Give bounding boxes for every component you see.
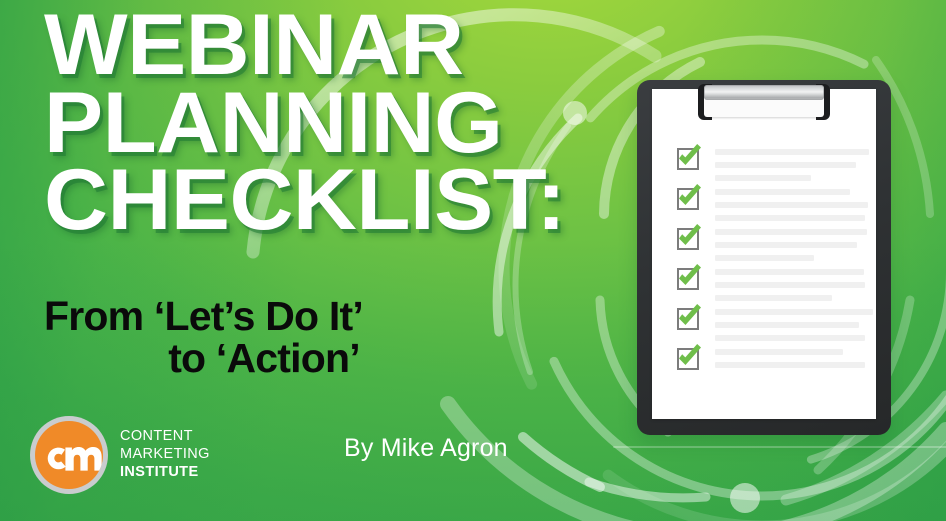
checklist xyxy=(652,89,876,419)
placeholder-line xyxy=(715,349,843,355)
placeholder-line xyxy=(715,229,867,235)
cmi-logo-wordmark: CONTENT MARKETING INSTITUTE xyxy=(120,428,210,481)
placeholder-line xyxy=(715,255,814,261)
logo-word-3: INSTITUTE xyxy=(120,464,210,482)
cmi-logo: CONTENT MARKETING INSTITUTE xyxy=(30,416,210,494)
placeholder-line xyxy=(715,149,869,155)
checkbox-checked-icon[interactable] xyxy=(677,148,699,170)
headline-line-2: PLANNING xyxy=(44,86,559,162)
logo-word-2: MARKETING xyxy=(120,446,210,464)
headline-line-1: WEBINAR xyxy=(44,8,559,84)
placeholder-line xyxy=(715,362,865,368)
check-mark-icon xyxy=(675,302,705,332)
cmi-logo-mark xyxy=(30,416,108,494)
cm-lettermark-icon xyxy=(35,421,103,489)
clip-metal-bar xyxy=(704,85,824,100)
promo-banner: WEBINAR PLANNING CHECKLIST: From ‘Let’s … xyxy=(0,0,946,521)
placeholder-line xyxy=(715,215,865,221)
checkbox-checked-icon[interactable] xyxy=(677,348,699,370)
logo-word-1: CONTENT xyxy=(120,428,210,446)
placeholder-text-lines xyxy=(715,349,865,375)
byline: By Mike Agron xyxy=(344,434,508,463)
dot-bottom-icon xyxy=(730,483,760,513)
placeholder-line xyxy=(715,175,811,181)
placeholder-text-lines xyxy=(715,229,867,268)
placeholder-text-lines xyxy=(715,189,868,228)
placeholder-line xyxy=(715,162,856,168)
subtitle: From ‘Let’s Do It’ to ‘Action’ xyxy=(44,296,514,380)
check-mark-icon xyxy=(675,342,705,372)
placeholder-line xyxy=(715,269,864,275)
check-mark-icon xyxy=(675,182,705,212)
placeholder-text-lines xyxy=(715,269,865,308)
clipboard-clip-icon xyxy=(698,83,830,120)
dot-top-left-icon xyxy=(563,101,587,125)
checkbox-checked-icon[interactable] xyxy=(677,228,699,250)
placeholder-line xyxy=(715,202,868,208)
placeholder-line xyxy=(715,309,873,315)
placeholder-line xyxy=(715,295,832,301)
clipboard-illustration xyxy=(637,80,891,435)
cmi-logo-disc xyxy=(35,421,103,489)
placeholder-text-lines xyxy=(715,309,873,348)
headline: WEBINAR PLANNING CHECKLIST: xyxy=(44,8,544,239)
check-mark-icon xyxy=(675,262,705,292)
checkbox-checked-icon[interactable] xyxy=(677,268,699,290)
checkbox-checked-icon[interactable] xyxy=(677,188,699,210)
subtitle-line-1: From ‘Let’s Do It’ xyxy=(44,296,514,338)
subtitle-line-2: to ‘Action’ xyxy=(44,338,514,380)
check-mark-icon xyxy=(675,142,705,172)
checkbox-checked-icon[interactable] xyxy=(677,308,699,330)
placeholder-line xyxy=(715,335,865,341)
headline-line-3: CHECKLIST: xyxy=(44,163,559,239)
placeholder-line xyxy=(715,322,859,328)
check-mark-icon xyxy=(675,222,705,252)
placeholder-line xyxy=(715,189,850,195)
placeholder-text-lines xyxy=(715,149,869,188)
placeholder-line xyxy=(715,242,857,248)
placeholder-line xyxy=(715,282,865,288)
